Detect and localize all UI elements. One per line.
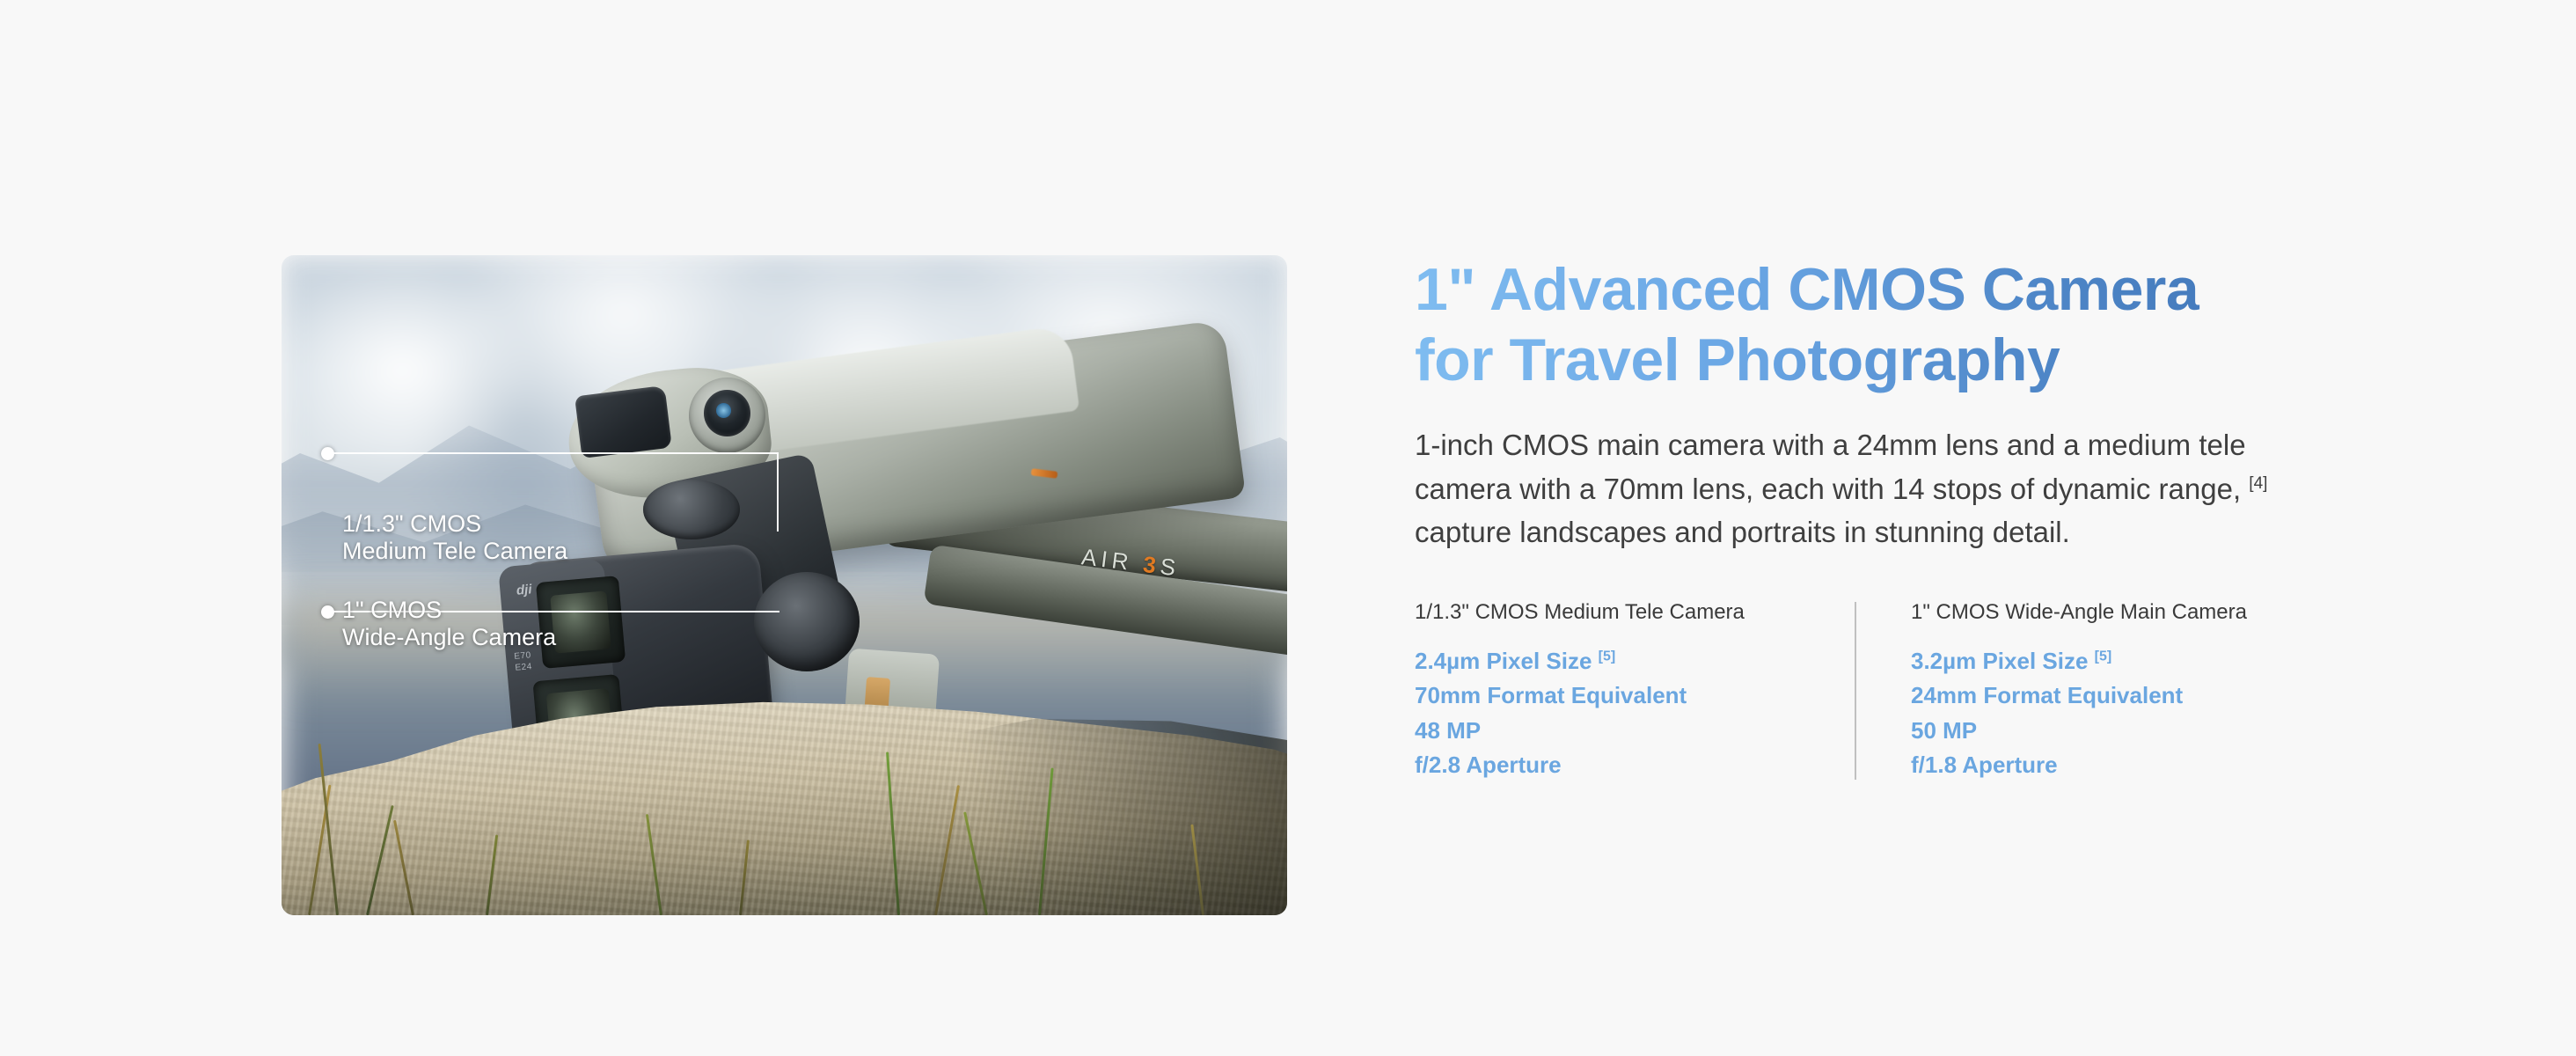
- image-callouts: 1/1.3" CMOS Medium Tele Camera 1" CMOS W…: [282, 255, 1287, 915]
- copy-panel: 1" Advanced CMOS Camera for Travel Photo…: [1415, 255, 2382, 783]
- spec-item: 24mm Format Equivalent: [1911, 678, 2296, 714]
- spec-column-wide-title: 1" CMOS Wide-Angle Main Camera: [1911, 600, 2296, 625]
- spec-item: 48 MP: [1415, 714, 1855, 749]
- spec-item-text: 70mm Format Equivalent: [1415, 682, 1687, 708]
- callout-wide-line2: Wide-Angle Camera: [342, 624, 556, 650]
- spec-item: f/1.8 Aperture: [1911, 748, 2296, 783]
- footnote-marker-5: [5]: [2095, 649, 2112, 664]
- spec-item-text: 24mm Format Equivalent: [1911, 682, 2183, 708]
- footnote-marker-4: [4]: [2249, 474, 2267, 493]
- body-text-part2: capture landscapes and portraits in stun…: [1415, 516, 2070, 548]
- spec-item-text: f/1.8 Aperture: [1911, 752, 2058, 778]
- spec-columns: 1/1.3" CMOS Medium Tele Camera 2.4µm Pix…: [1415, 600, 2382, 783]
- callout-wide-line1: 1" CMOS: [342, 597, 442, 623]
- spec-column-tele: 1/1.3" CMOS Medium Tele Camera 2.4µm Pix…: [1415, 600, 1855, 783]
- spec-item: 70mm Format Equivalent: [1415, 678, 1855, 714]
- callout-tele-line1: 1/1.3" CMOS: [342, 510, 481, 537]
- body-text-part1: 1-inch CMOS main camera with a 24mm lens…: [1415, 429, 2246, 505]
- headline-line-1: 1" Advanced CMOS Camera: [1415, 256, 2199, 323]
- camera-feature-section: AIR 3S dji E70 E24: [0, 0, 2576, 1056]
- callout-line-tele-horizontal: [333, 452, 779, 454]
- spec-item-text: f/2.8 Aperture: [1415, 752, 1562, 778]
- spec-item: 3.2µm Pixel Size [5]: [1911, 644, 2296, 679]
- product-image: AIR 3S dji E70 E24: [282, 255, 1287, 915]
- callout-line-tele-vertical: [777, 452, 779, 532]
- page-title: 1" Advanced CMOS Camera for Travel Photo…: [1415, 255, 2382, 395]
- spec-column-tele-title: 1/1.3" CMOS Medium Tele Camera: [1415, 600, 1855, 625]
- headline-line-2: for Travel Photography: [1415, 326, 2382, 396]
- spec-item-text: 3.2µm Pixel Size: [1911, 648, 2088, 674]
- callout-tele-line2: Medium Tele Camera: [342, 538, 567, 564]
- spec-column-wide: 1" CMOS Wide-Angle Main Camera 3.2µm Pix…: [1856, 600, 2296, 783]
- spec-item-text: 2.4µm Pixel Size: [1415, 648, 1592, 674]
- spec-item-text: 50 MP: [1911, 717, 1977, 744]
- callout-label-tele: 1/1.3" CMOS Medium Tele Camera: [342, 510, 567, 566]
- spec-item: 2.4µm Pixel Size [5]: [1415, 644, 1855, 679]
- callout-label-wide-final: 1" CMOS Wide-Angle Camera: [342, 597, 556, 652]
- spec-item: f/2.8 Aperture: [1415, 748, 1855, 783]
- footnote-marker-5: [5]: [1599, 649, 1616, 664]
- spec-item-text: 48 MP: [1415, 717, 1481, 744]
- spec-item: 50 MP: [1911, 714, 2296, 749]
- body-description: 1-inch CMOS main camera with a 24mm lens…: [1415, 423, 2286, 554]
